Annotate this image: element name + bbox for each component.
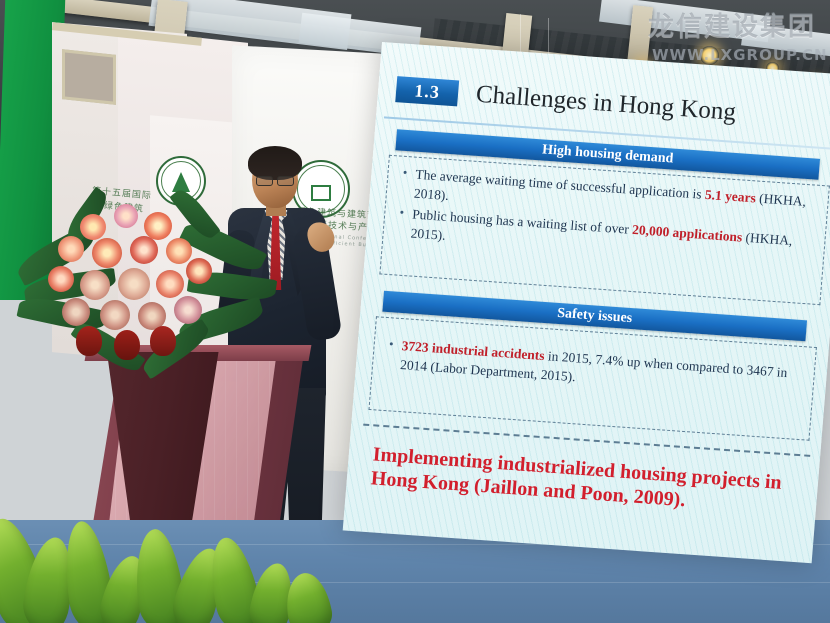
speaker-hair (248, 146, 302, 180)
booth-window-frame (62, 49, 116, 105)
slide-conclusion-text: Implementing industrialized housing proj… (370, 442, 823, 522)
presentation-photo-scene: 第十五届国际 绿色建筑 绿色建筑与建筑节能大会 新技术与产品博览会 Intern… (0, 0, 830, 623)
slide-section-number-badge: 1.3 (395, 76, 459, 106)
projected-slide: 1.3 Challenges in Hong Kong High housing… (343, 42, 830, 563)
watermark-url: WWW.LXGROUP.CN (652, 46, 828, 64)
slide-title: Challenges in Hong Kong (475, 81, 737, 127)
flower-arrangement (18, 190, 268, 390)
speaker-eyeglasses-icon (256, 176, 294, 184)
bullet-highlight: 20,000 applications (632, 222, 743, 245)
watermark-brand-cn: 龙信建设集团 (648, 6, 830, 43)
slide-title-row: 1.3 Challenges in Hong Kong (395, 69, 830, 140)
bullet-highlight: 5.1 years (704, 187, 756, 206)
